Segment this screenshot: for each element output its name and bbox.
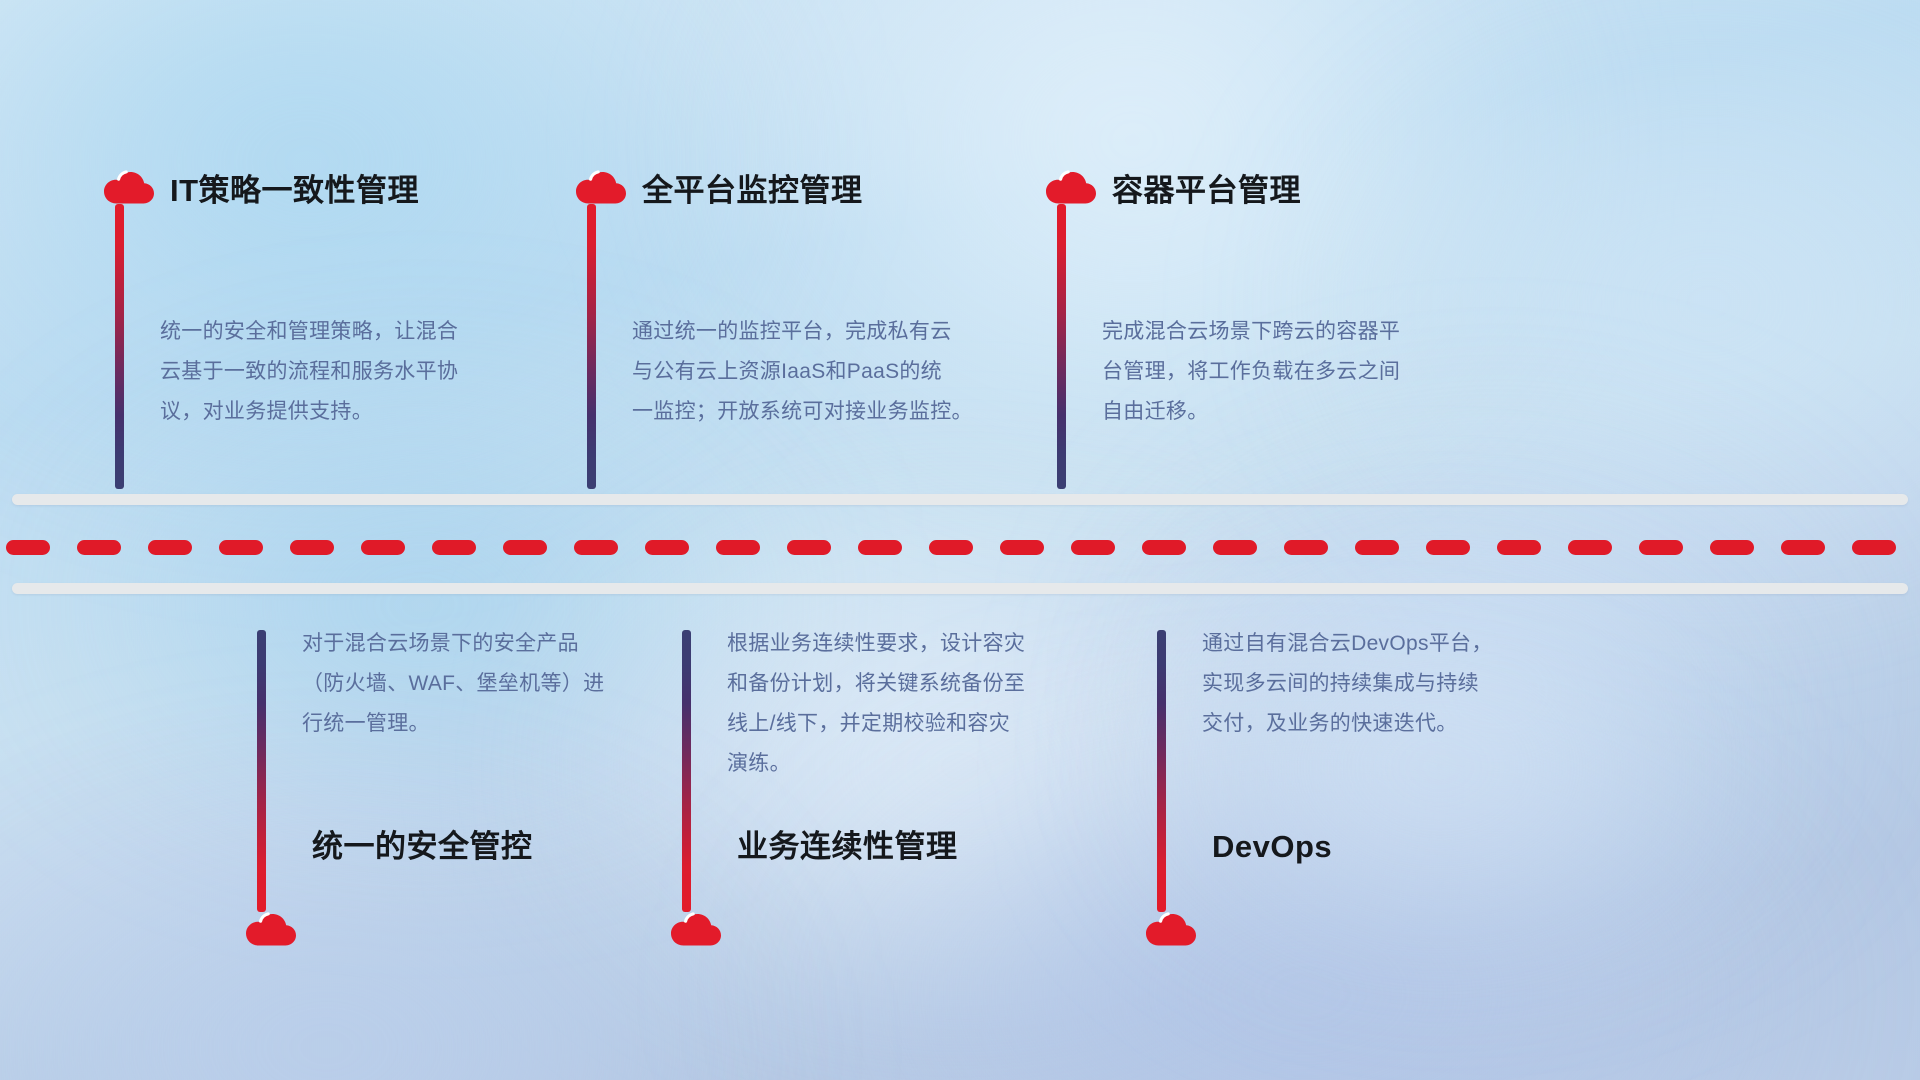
dashed-divider: [0, 540, 1920, 555]
dash-segment: [1355, 540, 1399, 555]
cloud-icon: [1140, 902, 1204, 946]
feature-body: 通过自有混合云DevOps平台， 实现多云间的持续集成与持续 交付，及业务的快速…: [1202, 624, 1554, 744]
dash-segment: [858, 540, 902, 555]
dash-segment: [1852, 540, 1896, 555]
cloud-icon: [570, 160, 634, 204]
dash-segment: [1142, 540, 1186, 555]
dash-segment: [1284, 540, 1328, 555]
cloud-icon: [240, 902, 304, 946]
feature-heading: 全平台监控管理: [642, 172, 863, 209]
cloud-icon: [665, 902, 729, 946]
connector-bar: [682, 630, 691, 912]
divider-line-top: [12, 494, 1908, 505]
dash-segment: [148, 540, 192, 555]
feature-body: 统一的安全和管理策略，让混合 云基于一致的流程和服务水平协 议，对业务提供支持。: [160, 312, 512, 432]
dash-segment: [432, 540, 476, 555]
feature-body: 通过统一的监控平台，完成私有云 与公有云上资源IaaS和PaaS的统 一监控；开…: [632, 312, 998, 432]
cloud-icon: [1040, 160, 1104, 204]
dash-segment: [645, 540, 689, 555]
feature-heading: IT策略一致性管理: [170, 172, 419, 209]
dash-segment: [1213, 540, 1257, 555]
dash-segment: [1497, 540, 1541, 555]
dash-segment: [787, 540, 831, 555]
dash-segment: [290, 540, 334, 555]
connector-bar: [1157, 630, 1166, 912]
dash-segment: [77, 540, 121, 555]
dash-segment: [574, 540, 618, 555]
feature-body: 对于混合云场景下的安全产品 （防火墙、WAF、堡垒机等）进 行统一管理。: [302, 624, 654, 744]
feature-heading: 容器平台管理: [1112, 172, 1301, 209]
dash-segment: [1710, 540, 1754, 555]
connector-bar: [257, 630, 266, 912]
connector-bar: [115, 204, 124, 489]
dash-segment: [1639, 540, 1683, 555]
connector-bar: [587, 204, 596, 489]
dash-segment: [6, 540, 50, 555]
divider-line-bottom: [12, 583, 1908, 594]
cloud-icon: [98, 160, 162, 204]
dash-segment: [361, 540, 405, 555]
dash-segment: [219, 540, 263, 555]
connector-bar: [1057, 204, 1066, 489]
dash-segment: [1781, 540, 1825, 555]
dash-segment: [929, 540, 973, 555]
feature-heading: DevOps: [1212, 828, 1332, 865]
feature-body: 根据业务连续性要求，设计容灾 和备份计划，将关键系统备份至 线上/线下，并定期校…: [727, 624, 1079, 784]
feature-heading: 统一的安全管控: [312, 828, 533, 865]
dash-segment: [716, 540, 760, 555]
feature-body: 完成混合云场景下跨云的容器平 台管理，将工作负载在多云之间 自由迁移。: [1102, 312, 1454, 432]
dash-segment: [503, 540, 547, 555]
dash-segment: [1000, 540, 1044, 555]
feature-heading: 业务连续性管理: [737, 828, 958, 865]
dash-segment: [1426, 540, 1470, 555]
dash-segment: [1071, 540, 1115, 555]
dash-segment: [1568, 540, 1612, 555]
